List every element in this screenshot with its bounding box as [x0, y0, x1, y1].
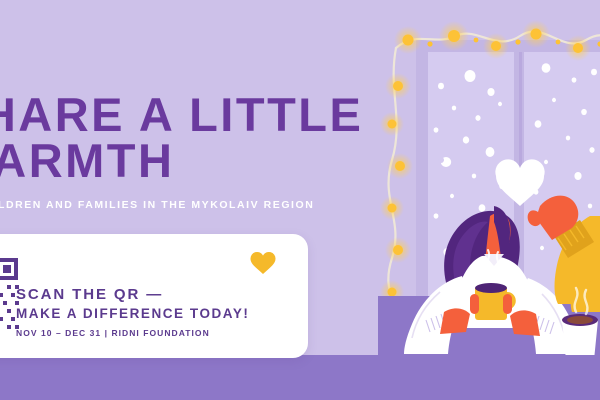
mitten-left [440, 308, 470, 334]
white-mug-icon [562, 314, 598, 360]
cta-subheadline: MAKE A DIFFERENCE TODAY! [16, 306, 249, 321]
page-title: SHARE A LITTLE WARMTH [0, 92, 368, 184]
cta-headline: SCAN THE QR — [16, 286, 249, 303]
illustration [378, 0, 600, 400]
charity-banner: SHARE A LITTLE WARMTH FOR CHILDREN AND F… [0, 0, 600, 400]
cta-text-block: SCAN THE QR — MAKE A DIFFERENCE TODAY! N… [16, 286, 249, 338]
cta-card[interactable]: SCAN THE QR — MAKE A DIFFERENCE TODAY! N… [0, 234, 308, 358]
table-band-foreground [0, 355, 600, 400]
headline-line-2: WARMTH [0, 138, 368, 184]
subheadline: FOR CHILDREN AND FAMILIES IN THE MYKOLAI… [0, 199, 314, 211]
cta-dates-and-org: NOV 10 – DEC 31 | RIDNI FOUNDATION [16, 328, 249, 338]
heart-icon [250, 251, 276, 275]
mitten-right [510, 310, 540, 336]
